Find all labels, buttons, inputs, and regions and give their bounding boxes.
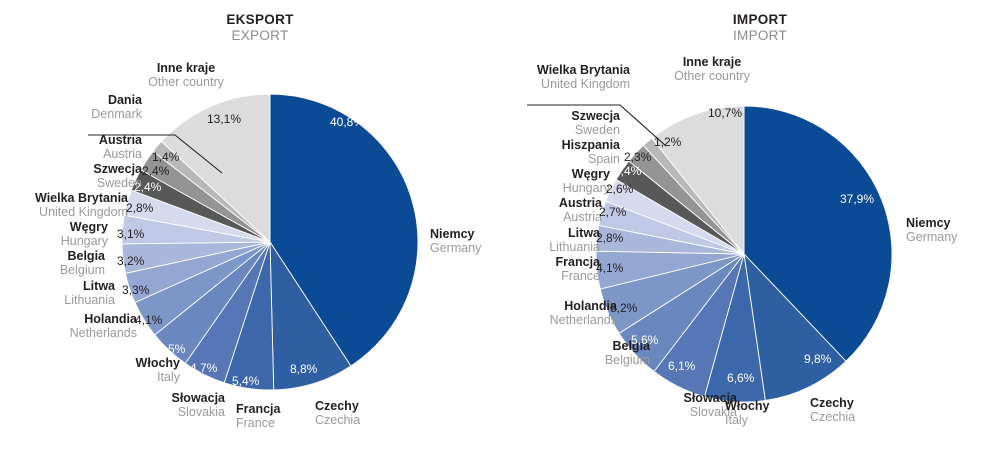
value-import-slovakia: 6,1% — [668, 359, 695, 373]
label-pl: Holandia — [502, 300, 617, 314]
value-export-hungary: 3,1% — [117, 227, 144, 241]
label-en: Czechia — [810, 411, 855, 425]
value-export-other-country: 13,1% — [207, 112, 241, 126]
label-import-germany: Niemcy Germany — [906, 217, 957, 245]
label-import-other-country: Inne kraje Other country — [642, 56, 782, 84]
label-export-italy: Włochy Italy — [0, 357, 180, 385]
label-en: Italy — [725, 414, 769, 428]
label-pl: Austria — [502, 197, 602, 211]
label-en: Slovakia — [0, 406, 225, 420]
label-en: Sweden — [0, 177, 142, 191]
value-export-france: 5,4% — [232, 374, 259, 388]
value-import-italy: 6,6% — [727, 371, 754, 385]
import-chart-panel: IMPORT IMPORT Inne kraje Other country W… — [502, 0, 1003, 464]
label-pl: Austria — [0, 134, 142, 148]
label-pl: Słowacja — [0, 392, 225, 406]
value-export-czechia: 8,8% — [290, 362, 317, 376]
value-export-austria: 2,4% — [142, 164, 169, 178]
label-export-austria: Austria Austria — [0, 134, 142, 162]
label-export-sweden: Szwecja Sweden — [0, 163, 142, 191]
label-pl: Szwecja — [502, 110, 620, 124]
value-export-sweden: 2,4% — [134, 180, 161, 194]
label-import-hungary: Węgry Hungary — [502, 168, 610, 196]
label-pl: Szwecja — [0, 163, 142, 177]
label-pl: Węgry — [502, 168, 610, 182]
label-en: Belgium — [0, 264, 105, 278]
label-pl: Włochy — [0, 357, 180, 371]
label-import-slovakia: Słowacja Slovakia — [502, 392, 737, 420]
label-import-austria: Austria Austria — [502, 197, 602, 225]
value-import-united-kingdom: 1,2% — [654, 135, 681, 149]
value-import-netherlands: 5,2% — [610, 301, 637, 315]
label-pl: Litwa — [0, 280, 115, 294]
label-export-hungary: Węgry Hungary — [0, 221, 108, 249]
value-import-france: 4,1% — [596, 261, 623, 275]
value-export-slovakia: 4,7% — [190, 361, 217, 375]
label-import-spain: Hiszpania Spain — [502, 139, 620, 167]
label-pl: Holandia — [0, 313, 137, 327]
value-export-united-kingdom: 2,8% — [126, 201, 153, 215]
label-pl: Wielka Brytania — [0, 192, 128, 206]
label-pl: Słowacja — [502, 392, 737, 406]
label-en: Netherlands — [0, 327, 137, 341]
label-import-netherlands: Holandia Netherlands — [502, 300, 617, 328]
label-import-italy: Włochy Italy — [725, 400, 769, 428]
label-en: Belgium — [502, 354, 650, 368]
label-pl: Litwa — [502, 227, 600, 241]
label-en: Germany — [906, 231, 957, 245]
label-en: Germany — [430, 242, 481, 256]
label-import-czechia: Czechy Czechia — [810, 397, 855, 425]
label-pl: Węgry — [0, 221, 108, 235]
value-export-lithuania: 3,3% — [122, 283, 149, 297]
label-en: France — [502, 270, 600, 284]
value-import-czechia: 9,8% — [804, 352, 831, 366]
label-export-denmark: Dania Denmark — [0, 94, 142, 122]
label-pl: Francja — [236, 403, 280, 417]
label-en: Austria — [0, 148, 142, 162]
value-export-netherlands: 4,1% — [135, 313, 162, 327]
label-pl: Dania — [0, 94, 142, 108]
value-export-belgium: 3,2% — [117, 254, 144, 268]
label-export-united-kingdom: Wielka Brytania United Kingdom — [0, 192, 128, 220]
label-pl: Czechy — [315, 400, 360, 414]
label-import-belgium: Belgia Belgium — [502, 340, 650, 368]
value-import-germany: 37,9% — [840, 192, 874, 206]
label-pl: Hiszpania — [502, 139, 620, 153]
value-export-italy: 4,5% — [158, 342, 185, 356]
label-export-france: Francja France — [236, 403, 280, 431]
label-pl: Wielka Brytania — [502, 64, 630, 78]
label-pl: Czechy — [810, 397, 855, 411]
label-pl: Belgia — [502, 340, 650, 354]
value-import-hungary: 2,6% — [606, 182, 633, 196]
label-import-united-kingdom: Wielka Brytania United Kingdom — [502, 64, 630, 92]
label-en: Czechia — [315, 414, 360, 428]
value-export-germany: 40,8% — [330, 115, 364, 129]
label-en: Hungary — [502, 182, 610, 196]
label-en: United Kingdom — [502, 78, 630, 92]
label-import-sweden: Szwecja Sweden — [502, 110, 620, 138]
label-import-france: Francja France — [502, 256, 600, 284]
label-en: Hungary — [0, 235, 108, 249]
label-en: Lithuania — [0, 294, 115, 308]
label-pl: Francja — [502, 256, 600, 270]
label-en: Spain — [502, 153, 620, 167]
value-import-lithuania: 2,8% — [596, 231, 623, 245]
label-export-czechia: Czechy Czechia — [315, 400, 360, 428]
label-en: Other country — [112, 76, 260, 90]
label-export-slovakia: Słowacja Slovakia — [0, 392, 225, 420]
label-en: Sweden — [502, 124, 620, 138]
label-pl: Inne kraje — [112, 62, 260, 76]
label-pl: Niemcy — [906, 217, 957, 231]
label-pl: Inne kraje — [642, 56, 782, 70]
value-import-other-country: 10,7% — [708, 106, 742, 120]
label-export-belgium: Belgia Belgium — [0, 250, 105, 278]
label-en: Other country — [642, 70, 782, 84]
label-export-germany: Niemcy Germany — [430, 228, 481, 256]
label-en: France — [236, 417, 280, 431]
label-en: Italy — [0, 371, 180, 385]
value-import-sweden: 2,3% — [624, 150, 651, 164]
label-en: Netherlands — [502, 314, 617, 328]
label-pl: Niemcy — [430, 228, 481, 242]
label-export-netherlands: Holandia Netherlands — [0, 313, 137, 341]
value-import-austria: 2,7% — [599, 205, 626, 219]
label-en: Slovakia — [502, 406, 737, 420]
label-import-lithuania: Litwa Lithuania — [502, 227, 600, 255]
value-import-spain: 2,4% — [614, 164, 641, 178]
label-pl: Włochy — [725, 400, 769, 414]
label-export-other-country: Inne kraje Other country — [112, 62, 260, 90]
export-chart-panel: EKSPORT EXPORT Inne kraje Other country … — [0, 0, 501, 464]
label-en: United Kingdom — [0, 206, 128, 220]
value-export-denmark: 1,4% — [152, 150, 179, 164]
label-en: Lithuania — [502, 241, 600, 255]
label-en: Denmark — [0, 108, 142, 122]
label-en: Austria — [502, 211, 602, 225]
value-import-belgium: 5,6% — [631, 333, 658, 347]
label-pl: Belgia — [0, 250, 105, 264]
label-export-lithuania: Litwa Lithuania — [0, 280, 115, 308]
